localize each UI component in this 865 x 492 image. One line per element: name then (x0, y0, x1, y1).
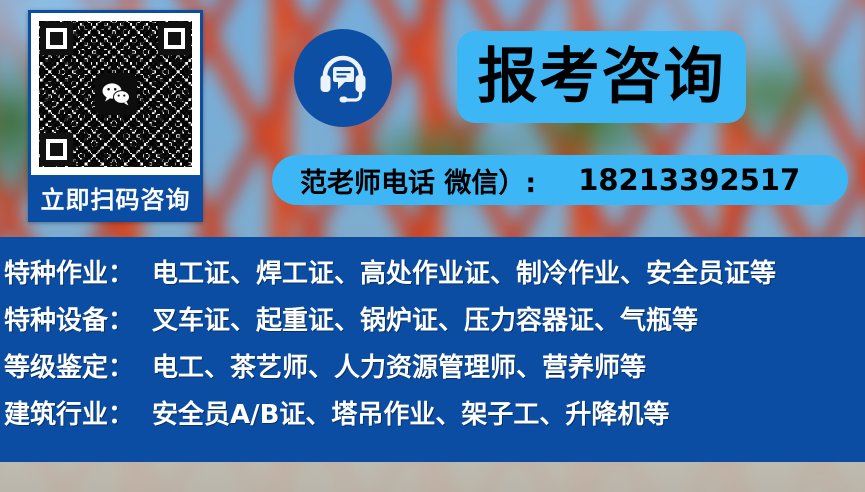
info-row: 建筑行业： 安全员A/B证、塔吊作业、架子工、升降机等 (4, 394, 865, 441)
info-row-label: 等级鉴定： (4, 347, 152, 384)
info-row-value: 电工证、焊工证、高处作业证、制冷作业、安全员证等 (152, 253, 776, 290)
qr-finder-bottom-left (40, 133, 73, 166)
contact-label: 范老师电话 微信）: (300, 161, 536, 200)
info-row-label: 特种作业： (4, 253, 152, 290)
info-row-value: 叉车证、起重证、锅炉证、压力容器证、气瓶等 (152, 300, 698, 337)
qr-code-frame (31, 13, 200, 175)
info-row-value: 电工、茶艺师、人力资源管理师、营养师等 (152, 347, 646, 384)
qr-quiet-zone-left (36, 18, 39, 170)
info-row-label: 建筑行业： (4, 394, 152, 431)
qr-finder-top-right (158, 22, 191, 55)
contact-phone-number: 18213392517 (578, 163, 800, 197)
qr-caption-label: 立即扫码咨询 (31, 175, 200, 219)
info-row: 等级鉴定： 电工、茶艺师、人力资源管理师、营养师等 (4, 347, 865, 394)
qr-code-card[interactable]: 立即扫码咨询 (28, 10, 203, 222)
contact-banner[interactable]: 范老师电话 微信）: 18213392517 (272, 155, 848, 205)
services-info-panel: 特种作业： 电工证、焊工证、高处作业证、制冷作业、安全员证等 特种设备： 叉车证… (0, 237, 865, 462)
qr-quiet-zone-bottom (36, 167, 195, 170)
info-row: 特种作业： 电工证、焊工证、高处作业证、制冷作业、安全员证等 (4, 253, 865, 300)
promo-poster: 立即扫码咨询 报考咨询 范老师电话 微信）: 18213392517 特种作业：… (0, 0, 865, 492)
info-row-label: 特种设备： (4, 300, 152, 337)
title-banner: 报考咨询 (457, 31, 746, 123)
qr-finder-top-left (40, 22, 73, 55)
qr-code-image (36, 18, 195, 170)
info-row: 特种设备： 叉车证、起重证、锅炉证、压力容器证、气瓶等 (4, 300, 865, 347)
headset-support-icon (294, 29, 392, 127)
qr-quiet-zone-top (36, 18, 195, 21)
page-title: 报考咨询 (478, 47, 726, 107)
wechat-logo-icon (95, 73, 137, 115)
qr-quiet-zone-right (192, 18, 195, 170)
info-row-value: 安全员A/B证、塔吊作业、架子工、升降机等 (152, 394, 669, 431)
